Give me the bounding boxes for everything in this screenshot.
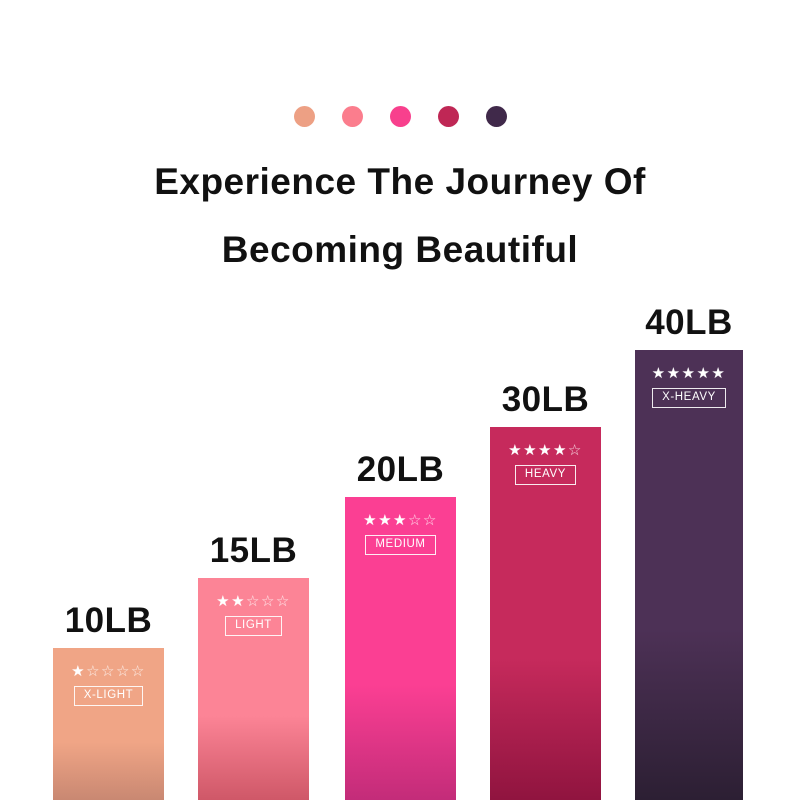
- bar-group-x-heavy[interactable]: 40LB★★★★★X-HEAVY: [635, 350, 743, 800]
- bar-rect[interactable]: ★★★★★X-HEAVY: [635, 350, 743, 800]
- star-rating-icon: ★★☆☆☆: [216, 594, 291, 609]
- stars-empty: ☆☆☆: [246, 593, 291, 610]
- stars-empty: ☆☆☆☆: [86, 663, 146, 680]
- bar-group-x-light[interactable]: 10LB★☆☆☆☆X-LIGHT: [53, 648, 164, 800]
- stars-filled: ★: [71, 663, 86, 680]
- bar-badge-block: ★★★☆☆MEDIUM: [345, 513, 456, 555]
- bar-weight-label: 15LB: [210, 531, 298, 571]
- stars-empty: ☆☆: [408, 512, 438, 529]
- resistance-tag: MEDIUM: [365, 535, 435, 555]
- bar-weight-label: 30LB: [502, 380, 590, 420]
- stars-empty: ☆: [568, 442, 583, 459]
- resistance-tag: X-HEAVY: [652, 388, 726, 408]
- resistance-tag: X-LIGHT: [74, 686, 144, 706]
- stars-filled: ★★★: [363, 512, 408, 529]
- bar-badge-block: ★★★★☆HEAVY: [490, 443, 601, 485]
- bar-rect[interactable]: ★★☆☆☆LIGHT: [198, 578, 309, 800]
- stars-filled: ★★★★★: [652, 365, 727, 382]
- star-rating-icon: ★★★★★: [652, 366, 727, 381]
- resistance-tag: HEAVY: [515, 465, 576, 485]
- bar-badge-block: ★★★★★X-HEAVY: [635, 366, 743, 408]
- resistance-bar-chart: 10LB★☆☆☆☆X-LIGHT15LB★★☆☆☆LIGHT20LB★★★☆☆M…: [0, 0, 800, 800]
- bar-group-medium[interactable]: 20LB★★★☆☆MEDIUM: [345, 497, 456, 800]
- bar-rect[interactable]: ★★★☆☆MEDIUM: [345, 497, 456, 800]
- stars-filled: ★★: [216, 593, 246, 610]
- star-rating-icon: ★☆☆☆☆: [71, 664, 146, 679]
- bar-badge-block: ★☆☆☆☆X-LIGHT: [53, 664, 164, 706]
- poster-canvas: Experience The Journey Of Becoming Beaut…: [0, 0, 800, 800]
- bar-group-heavy[interactable]: 30LB★★★★☆HEAVY: [490, 427, 601, 800]
- bar-weight-label: 20LB: [357, 450, 445, 490]
- bar-weight-label: 10LB: [65, 601, 153, 641]
- bar-badge-block: ★★☆☆☆LIGHT: [198, 594, 309, 636]
- bar-rect[interactable]: ★★★★☆HEAVY: [490, 427, 601, 800]
- star-rating-icon: ★★★★☆: [508, 443, 583, 458]
- star-rating-icon: ★★★☆☆: [363, 513, 438, 528]
- bar-weight-label: 40LB: [645, 303, 733, 343]
- resistance-tag: LIGHT: [225, 616, 282, 636]
- stars-filled: ★★★★: [508, 442, 568, 459]
- bar-group-light[interactable]: 15LB★★☆☆☆LIGHT: [198, 578, 309, 800]
- bar-rect[interactable]: ★☆☆☆☆X-LIGHT: [53, 648, 164, 800]
